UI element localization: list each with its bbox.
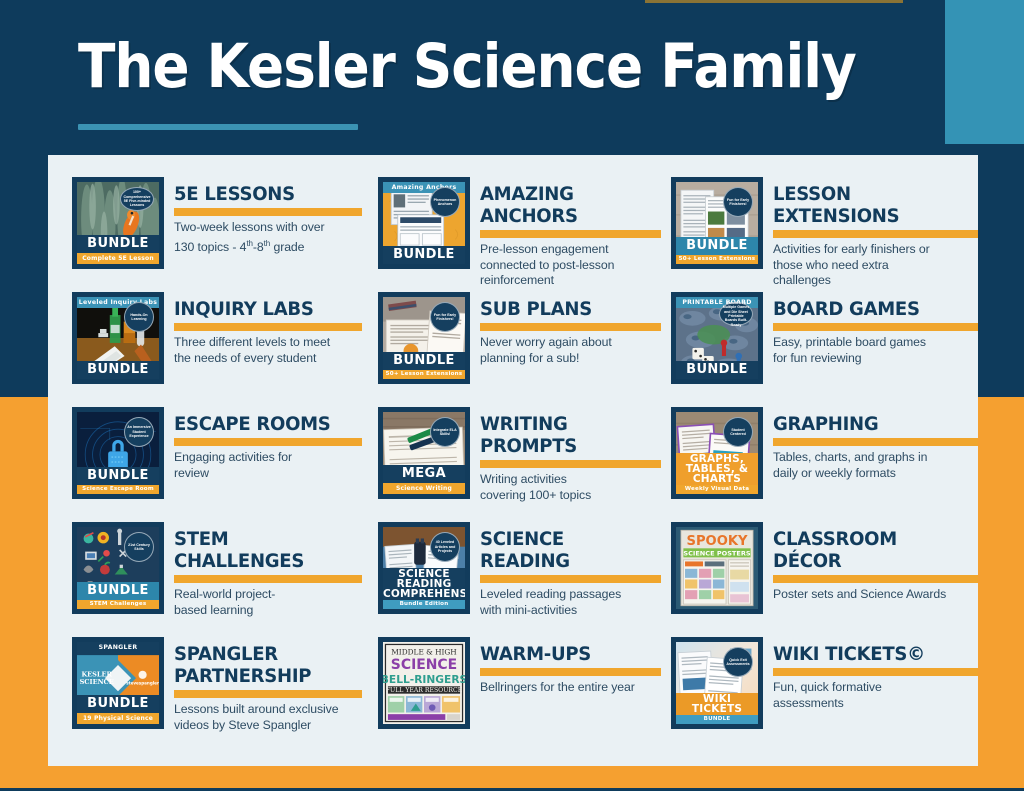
thumbnail-badge: Quick Exit Assessments: [723, 647, 753, 677]
thumbnail-sub-label: BUNDLE: [676, 715, 758, 724]
thumbnail-badge: Integrate ELA Skills!: [430, 417, 460, 447]
thumbnail-sub-label: Complete 5E Lesson Plans: [77, 253, 159, 264]
thumbnail-sub-label: Bundle Edition: [383, 600, 465, 609]
card-title: 5E LESSONS: [174, 183, 353, 205]
product-thumbnail[interactable]: 40 Leveled Articles and ProjectsSCIENCE …: [378, 522, 470, 614]
thumbnail-badge: Fun for Early Finishers!: [723, 187, 753, 217]
card-description: Never worry again aboutplanning for a su…: [480, 335, 661, 366]
card-description: Writing activitiescovering 100+ topics: [480, 472, 661, 503]
card-description: Fun, quick formativeassessments: [773, 680, 978, 711]
thumbnail-inner: 40 Leveled Articles and ProjectsSCIENCE …: [383, 527, 465, 609]
card-text-column: AMAZING ANCHORSPre-lesson engagementconn…: [480, 177, 661, 289]
card-description: Easy, printable board gamesfor fun revie…: [773, 335, 978, 366]
product-thumbnail[interactable]: Student CenteredGRAPHS, TABLES, & CHARTS…: [671, 407, 763, 499]
thumbnail-inner: PRINTABLE BOARD GAMEIncludes 10 Multiple…: [676, 297, 758, 379]
thumbnail-sub-label: 50+ Lesson Extensions: [383, 370, 465, 379]
thumbnail-sub-label: 50+ Lesson Extensions: [676, 255, 758, 264]
card-accent-rule: [174, 690, 362, 698]
thumbnail-bundle-label: GRAPHS, TABLES, & CHARTS: [676, 453, 758, 485]
thumbnail-inner: Integrate ELA Skills!MEGA BUNDLEScience …: [383, 412, 465, 494]
product-card[interactable]: 40 Leveled Articles and ProjectsSCIENCE …: [362, 522, 661, 636]
product-thumbnail[interactable]: Fun for Early Finishers!BUNDLE50+ Lesson…: [378, 292, 470, 384]
thumbnail-inner: Leveled Inquiry LabsHands-On LearningBUN…: [77, 297, 159, 379]
product-card[interactable]: SPOOKY SCIENCE POSTERS: [661, 522, 978, 636]
product-thumbnail[interactable]: Fun for Early Finishers!BUNDLE50+ Lesson…: [671, 177, 763, 269]
card-text-column: SCIENCE READINGLeveled reading passagesw…: [480, 522, 661, 618]
thumbnail-inner: MIDDLE & HIGH SCIENCE BELL-RINGERS FULL …: [383, 642, 465, 724]
card-title: SPANGLER PARTNERSHIP: [174, 643, 353, 687]
card-title: STEM CHALLENGES: [174, 528, 353, 572]
thumbnail-sub-label: Science Escape Room: [77, 485, 159, 494]
title-underline: [78, 124, 358, 130]
thumbnail-inner: 100+ Comprehensive 5E Five-minded Lesson…: [77, 182, 159, 264]
product-card[interactable]: An Immersive Student ExperienceBUNDLESci…: [48, 407, 362, 521]
card-text-column: WRITING PROMPTSWriting activitiescoverin…: [480, 407, 661, 503]
thumbnail-sub-label: STEM Challenges: [77, 600, 159, 609]
card-title: SCIENCE READING: [480, 528, 652, 572]
thumbnail-bundle-label: BUNDLE: [676, 237, 758, 255]
thumbnail-badge: Includes 10 Multiple Games and Die Sheet…: [719, 302, 753, 326]
thumbnail-top-banner: SPANGLER PHENOMENON: [77, 642, 159, 653]
card-description: Poster sets and Science Awards: [773, 587, 978, 603]
thumbnail-inner: An Immersive Student ExperienceBUNDLESci…: [77, 412, 159, 494]
card-text-column: WIKI TICKETS©Fun, quick formativeassessm…: [773, 637, 978, 711]
thumbnail-inner: KESLER SCIENCE stevespangler SPANGLER PH…: [77, 642, 159, 724]
product-card[interactable]: Leveled Inquiry LabsHands-On LearningBUN…: [48, 292, 362, 406]
card-title: WRITING PROMPTS: [480, 413, 652, 457]
card-text-column: ESCAPE ROOMSEngaging activities forrevie…: [174, 407, 362, 481]
card-accent-rule: [773, 668, 978, 676]
product-card[interactable]: Student CenteredGRAPHS, TABLES, & CHARTS…: [661, 407, 978, 521]
card-description: Two-week lessons with over130 topics - 4…: [174, 220, 362, 255]
svg-text:stevespangler: stevespangler: [126, 681, 159, 686]
svg-text:SCIENCE POSTERS: SCIENCE POSTERS: [683, 550, 751, 558]
card-description: Pre-lesson engagementconnected to post-l…: [480, 242, 661, 289]
card-description: Three different levels to meetthe needs …: [174, 335, 362, 366]
card-title: WARM-UPS: [480, 643, 652, 665]
thumbnail-artwork-bellringers-cover: MIDDLE & HIGH SCIENCE BELL-RINGERS FULL …: [383, 642, 465, 724]
thumbnail-badge: An Immersive Student Experience: [124, 417, 154, 447]
card-accent-rule: [773, 438, 978, 446]
product-card[interactable]: 100+ Comprehensive 5E Five-minded Lesson…: [48, 177, 362, 291]
product-card[interactable]: Integrate ELA Skills!MEGA BUNDLEScience …: [362, 407, 661, 521]
card-text-column: CLASSROOM DÉCORPoster sets and Science A…: [773, 522, 978, 603]
card-description: Activities for early finishers orthose w…: [773, 242, 978, 289]
card-accent-rule: [480, 575, 661, 583]
product-card[interactable]: Amazing AnchorsPhenomenon AnchorsBUNDLEA…: [362, 177, 661, 291]
thumbnail-bundle-label: BUNDLE: [77, 695, 159, 713]
thumbnail-badge: 100+ Comprehensive 5E Five-minded Lesson…: [120, 187, 154, 211]
thumbnail-badge: Hands-On Learning: [124, 302, 154, 332]
thumbnail-bundle-label: BUNDLE: [77, 235, 159, 253]
thumbnail-inner: Amazing AnchorsPhenomenon AnchorsBUNDLE: [383, 182, 465, 264]
svg-text:SPOOKY: SPOOKY: [687, 534, 748, 549]
card-description: Tables, charts, and graphs indaily or we…: [773, 450, 978, 481]
card-description: Real-world project-based learning: [174, 587, 362, 618]
card-text-column: WARM-UPSBellringers for the entire year: [480, 637, 661, 696]
card-title: LESSON EXTENSIONS: [773, 183, 968, 227]
thumbnail-bundle-label: MEGA BUNDLE: [383, 465, 465, 483]
card-accent-rule: [480, 668, 661, 676]
thumbnail-inner: Fun for Early Finishers!BUNDLE50+ Lesson…: [676, 182, 758, 264]
thumbnail-inner: SPOOKY SCIENCE POSTERS: [676, 527, 758, 609]
thumbnail-bundle-label: BUNDLE: [77, 582, 159, 600]
thumbnail-inner: Quick Exit AssessmentsWIKI TICKETSBUNDLE: [676, 642, 758, 724]
thumbnail-inner: Student CenteredGRAPHS, TABLES, & CHARTS…: [676, 412, 758, 494]
product-card[interactable]: MIDDLE & HIGH SCIENCE BELL-RINGERS FULL …: [362, 637, 661, 751]
product-thumbnail[interactable]: Amazing AnchorsPhenomenon AnchorsBUNDLE: [378, 177, 470, 269]
product-thumbnail[interactable]: Integrate ELA Skills!MEGA BUNDLEScience …: [378, 407, 470, 499]
card-text-column: SUB PLANSNever worry again aboutplanning…: [480, 292, 661, 366]
page-title: The Kesler Science Family: [78, 36, 856, 98]
product-thumbnail[interactable]: An Immersive Student ExperienceBUNDLESci…: [72, 407, 164, 499]
thumbnail-bundle-label: BUNDLE: [77, 361, 159, 379]
thumbnail-inner: 21st Century SkillsBUNDLESTEM Challenges: [77, 527, 159, 609]
card-accent-rule: [174, 323, 362, 331]
card-title: BOARD GAMES: [773, 298, 968, 320]
product-card[interactable]: 21st Century SkillsBUNDLESTEM Challenges…: [48, 522, 362, 636]
svg-text:SCIENCE: SCIENCE: [80, 678, 114, 686]
product-thumbnail[interactable]: 21st Century SkillsBUNDLESTEM Challenges: [72, 522, 164, 614]
card-accent-rule: [480, 460, 661, 468]
card-accent-rule: [174, 208, 362, 216]
card-title: SUB PLANS: [480, 298, 652, 320]
thumbnail-sub-label: 19 Physical Science Lessons: [77, 713, 159, 724]
svg-text:MIDDLE & HIGH: MIDDLE & HIGH: [391, 647, 457, 656]
card-description: Lessons built around exclusivevideos by …: [174, 702, 362, 733]
product-grid: 100+ Comprehensive 5E Five-minded Lesson…: [48, 155, 978, 766]
card-accent-rule: [174, 438, 362, 446]
card-title: GRAPHING: [773, 413, 968, 435]
thumbnail-artwork-spooky-posters: SPOOKY SCIENCE POSTERS: [676, 527, 758, 609]
card-accent-rule: [480, 323, 661, 331]
product-thumbnail[interactable]: KESLER SCIENCE stevespangler SPANGLER PH…: [72, 637, 164, 729]
thumbnail-bundle-label: BUNDLE: [77, 467, 159, 485]
card-title: CLASSROOM DÉCOR: [773, 528, 968, 572]
card-title: INQUIRY LABS: [174, 298, 353, 320]
thumbnail-sub-label: Science Writing Prompt Activities: [383, 483, 465, 494]
card-accent-rule: [773, 230, 978, 238]
card-text-column: 5E LESSONSTwo-week lessons with over130 …: [174, 177, 362, 255]
product-thumbnail[interactable]: SPOOKY SCIENCE POSTERS: [671, 522, 763, 614]
card-text-column: STEM CHALLENGESReal-world project-based …: [174, 522, 362, 618]
card-description: Bellringers for the entire year: [480, 680, 661, 696]
product-thumbnail[interactable]: MIDDLE & HIGH SCIENCE BELL-RINGERS FULL …: [378, 637, 470, 729]
thumbnail-bundle-label: BUNDLE: [383, 246, 465, 264]
svg-text:BELL-RINGERS: BELL-RINGERS: [383, 673, 465, 686]
card-description: Engaging activities forreview: [174, 450, 362, 481]
card-text-column: SPANGLER PARTNERSHIPLessons built around…: [174, 637, 362, 733]
card-description: Leveled reading passageswith mini-activi…: [480, 587, 661, 618]
product-card[interactable]: Fun for Early Finishers!BUNDLE50+ Lesson…: [661, 177, 978, 291]
content-panel: 100+ Comprehensive 5E Five-minded Lesson…: [48, 155, 978, 766]
card-title: AMAZING ANCHORS: [480, 183, 652, 227]
product-card[interactable]: Fun for Early Finishers!BUNDLE50+ Lesson…: [362, 292, 661, 406]
thumbnail-bundle-label: SCIENCE READING COMPREHENSION: [383, 568, 465, 600]
thumbnail-sub-label: Weekly Visual Data: [676, 485, 758, 494]
card-text-column: BOARD GAMESEasy, printable board gamesfo…: [773, 292, 978, 366]
card-title: WIKI TICKETS©: [773, 643, 968, 665]
card-accent-rule: [773, 575, 978, 583]
product-thumbnail[interactable]: PRINTABLE BOARD GAMEIncludes 10 Multiple…: [671, 292, 763, 384]
thumbnail-badge: 21st Century Skills: [124, 532, 154, 562]
thumbnail-badge: Fun for Early Finishers!: [430, 302, 460, 332]
thumbnail-bundle-label: BUNDLE: [383, 352, 465, 370]
thumbnail-badge: 40 Leveled Articles and Projects: [430, 532, 460, 562]
thumbnail-bundle-label: WIKI TICKETS: [676, 693, 758, 715]
product-card[interactable]: KESLER SCIENCE stevespangler SPANGLER PH…: [48, 637, 362, 751]
thumbnail-bundle-label: BUNDLE: [676, 361, 758, 379]
product-thumbnail[interactable]: Leveled Inquiry LabsHands-On LearningBUN…: [72, 292, 164, 384]
card-accent-rule: [480, 230, 661, 238]
product-card[interactable]: PRINTABLE BOARD GAMEIncludes 10 Multiple…: [661, 292, 978, 406]
card-text-column: INQUIRY LABSThree different levels to me…: [174, 292, 362, 366]
page-header: The Kesler Science Family: [0, 0, 1024, 155]
product-card[interactable]: Quick Exit AssessmentsWIKI TICKETSBUNDLE…: [661, 637, 978, 751]
card-title: ESCAPE ROOMS: [174, 413, 353, 435]
thumbnail-inner: Fun for Early Finishers!BUNDLE50+ Lesson…: [383, 297, 465, 379]
card-accent-rule: [773, 323, 978, 331]
product-thumbnail[interactable]: Quick Exit AssessmentsWIKI TICKETSBUNDLE: [671, 637, 763, 729]
card-text-column: GRAPHINGTables, charts, and graphs indai…: [773, 407, 978, 481]
svg-text:FULL YEAR RESOURCE: FULL YEAR RESOURCE: [386, 687, 462, 694]
card-text-column: LESSON EXTENSIONSActivities for early fi…: [773, 177, 978, 289]
thumbnail-badge: Student Centered: [723, 417, 753, 447]
product-thumbnail[interactable]: 100+ Comprehensive 5E Five-minded Lesson…: [72, 177, 164, 269]
thumbnail-badge: Phenomenon Anchors: [430, 187, 460, 217]
card-accent-rule: [174, 575, 362, 583]
svg-text:SCIENCE: SCIENCE: [391, 657, 457, 673]
